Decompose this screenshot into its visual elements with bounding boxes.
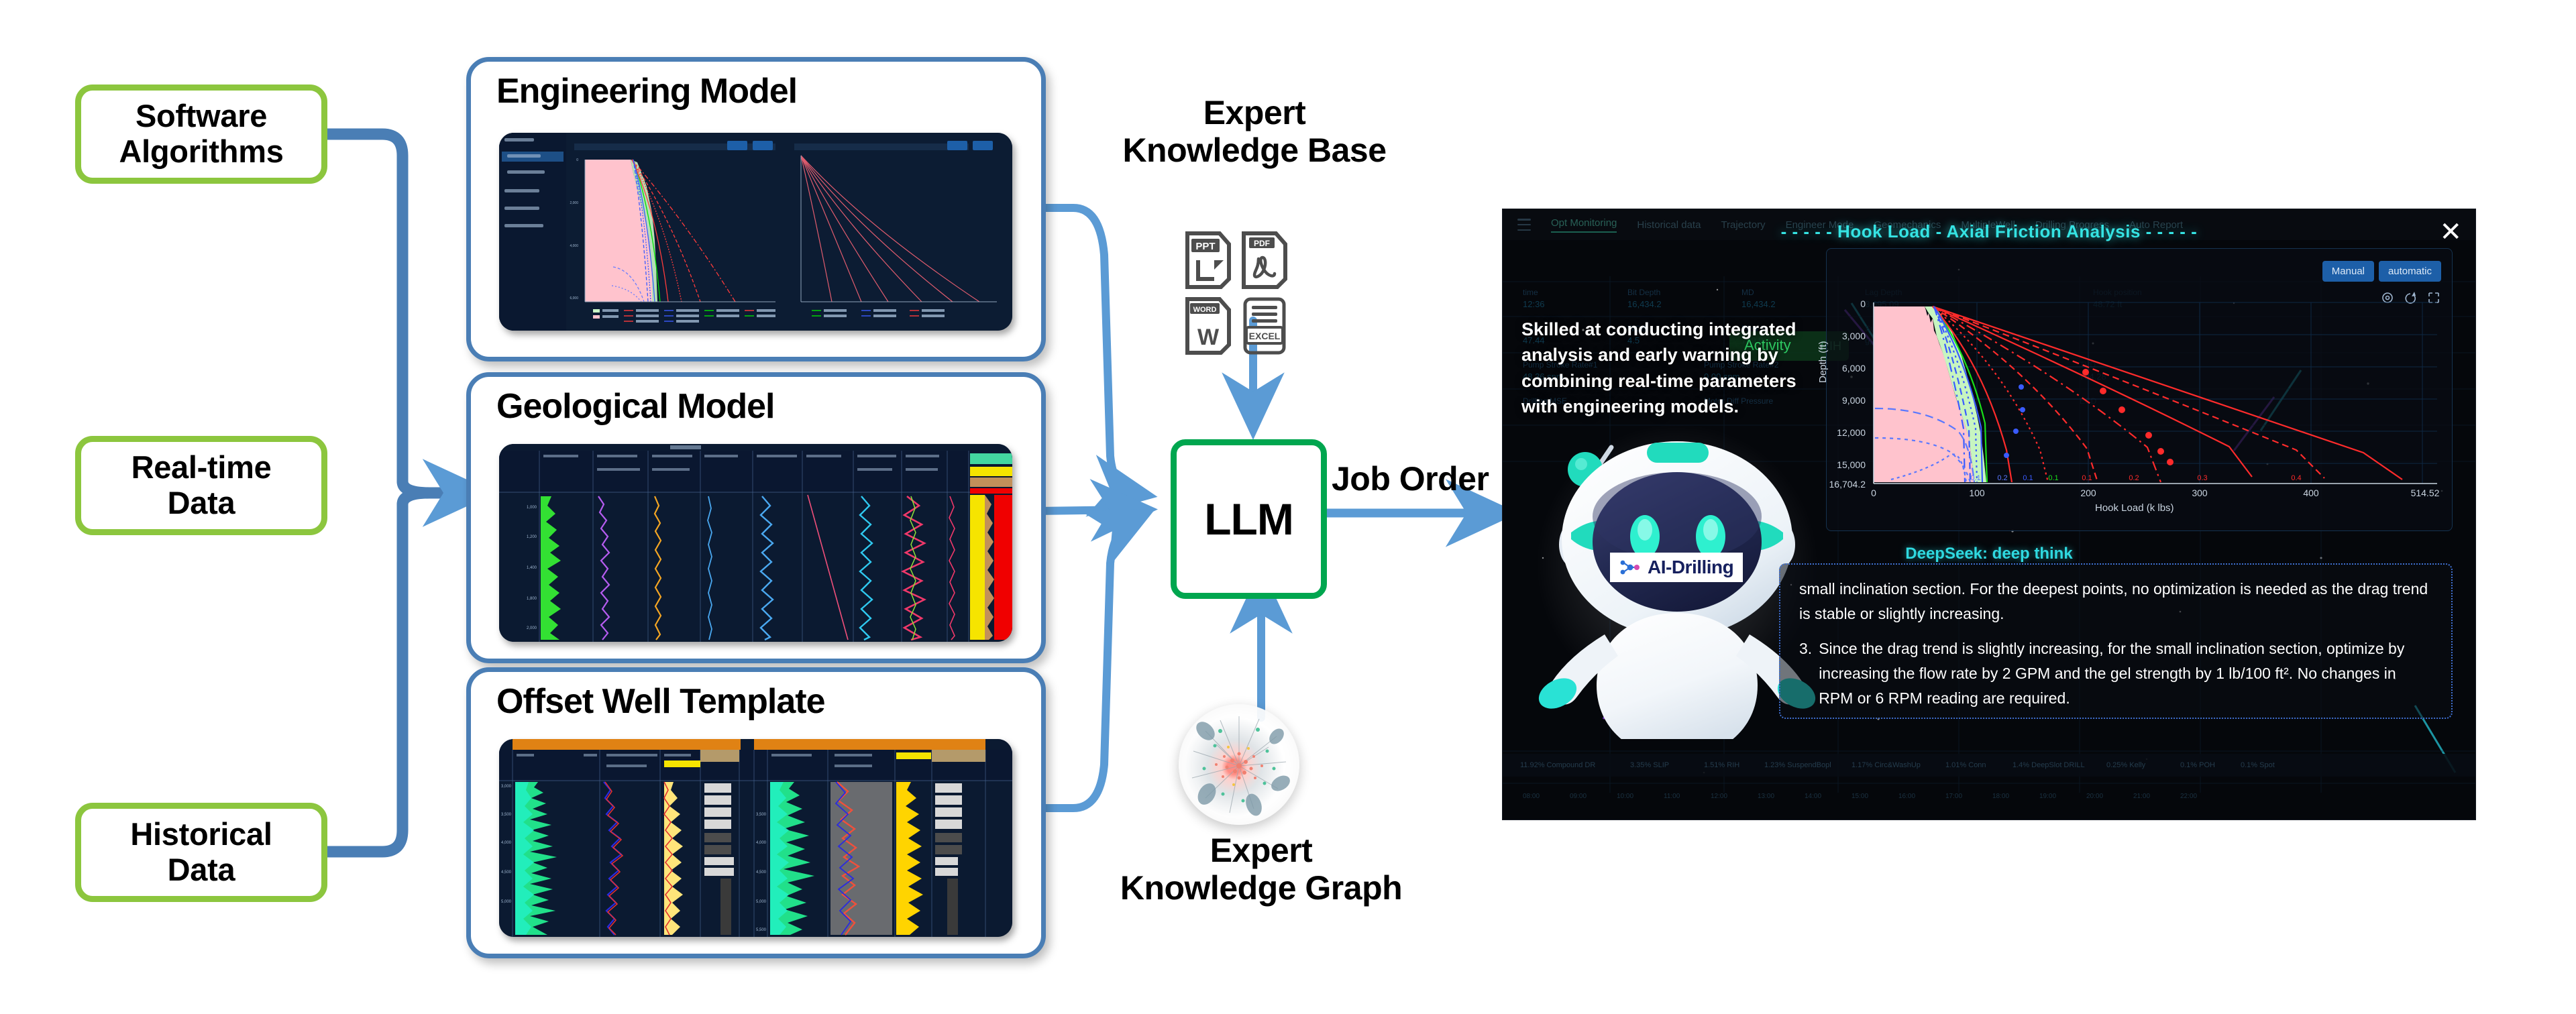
svg-text:4,000: 4,000 — [570, 244, 578, 248]
svg-text:1.51% RIH: 1.51% RIH — [1704, 761, 1739, 769]
knowledge-base-title: Expert Knowledge Base — [1100, 94, 1409, 169]
svg-text:15:00: 15:00 — [1851, 793, 1868, 800]
svg-text:11.92% Compound DR: 11.92% Compound DR — [1520, 761, 1595, 769]
llm-box[interactable]: LLM — [1171, 439, 1327, 599]
x-tick-300: 300 — [2189, 488, 2210, 498]
model-title: Engineering Model — [496, 71, 797, 111]
model-title: Offset Well Template — [496, 681, 825, 722]
svg-text:13:00: 13:00 — [1758, 793, 1774, 800]
chart-title: - - - - - Hook Load - Axial Friction Ana… — [1503, 221, 2475, 242]
svg-text:PDF: PDF — [1254, 239, 1270, 248]
x-tick-100: 100 — [1966, 488, 1988, 498]
source-box-software-algorithms[interactable]: Software Algorithms — [75, 84, 327, 184]
svg-text:0.1: 0.1 — [2048, 474, 2058, 482]
knowledge-graph-icon[interactable] — [1179, 704, 1299, 825]
svg-text:17:00: 17:00 — [1945, 793, 1962, 800]
source-label: Historical Data — [130, 817, 272, 887]
x-tick-200: 200 — [2078, 488, 2099, 498]
svg-text:1,800: 1,800 — [527, 597, 537, 601]
llm-label: LLM — [1204, 494, 1293, 545]
svg-text:0.1: 0.1 — [2082, 474, 2092, 482]
svg-text:08:00: 08:00 — [1523, 793, 1540, 800]
deepseek-item-number: 3. — [1799, 636, 1812, 712]
y-axis-label: Depth (ft) — [1817, 341, 1829, 383]
svg-text:EXCEL: EXCEL — [1249, 331, 1281, 341]
offset-well-template-screenshot: 3,000 3,500 4,000 4,500 5,000 3,500 4,00… — [499, 739, 1012, 937]
svg-text:2,000: 2,000 — [570, 201, 578, 205]
source-label: Software Algorithms — [119, 99, 283, 169]
deepseek-output-panel[interactable]: small inclination section. For the deepe… — [1779, 563, 2453, 719]
svg-text:1.4% DeepSlot DRILL: 1.4% DeepSlot DRILL — [2012, 761, 2085, 769]
svg-text:Bit Depth: Bit Depth — [1627, 288, 1660, 297]
pdf-file-icon[interactable]: PDF — [1238, 229, 1291, 291]
svg-text:12:36: 12:36 — [1523, 299, 1545, 309]
y-tick-12000: 12,000 — [1827, 427, 1866, 438]
svg-text:22:00: 22:00 — [2180, 793, 2197, 800]
job-order-label: Job Order — [1332, 459, 1489, 498]
svg-text:5,500: 5,500 — [756, 928, 767, 932]
svg-text:4,000: 4,000 — [501, 841, 512, 845]
svg-text:4,500: 4,500 — [756, 870, 767, 875]
model-output-arrows — [1036, 208, 1134, 808]
svg-text:0.25% Kelly: 0.25% Kelly — [2106, 761, 2146, 769]
document-icons-group: PPT PDF WORD W — [1182, 229, 1291, 357]
svg-text:1,000: 1,000 — [527, 506, 537, 510]
source-bracket — [315, 134, 463, 852]
word-file-icon[interactable]: WORD W — [1182, 295, 1234, 357]
deepseek-list-item: 3. Since the drag trend is slightly incr… — [1799, 636, 2432, 712]
svg-text:MD: MD — [1741, 288, 1754, 297]
svg-text:16:00: 16:00 — [1898, 793, 1915, 800]
svg-text:12:00: 12:00 — [1711, 793, 1727, 800]
svg-text:0.4: 0.4 — [2291, 474, 2301, 482]
knowledge-base-title-line1: Expert — [1100, 94, 1409, 131]
svg-text:16,434.2: 16,434.2 — [1627, 299, 1662, 309]
svg-text:6,000: 6,000 — [570, 296, 578, 300]
geological-model-screenshot: 1,000 1,200 1,400 1,800 2,000 — [499, 444, 1012, 642]
svg-text:3,500: 3,500 — [501, 813, 512, 817]
svg-text:1,400: 1,400 — [527, 566, 537, 570]
svg-text:21:00: 21:00 — [2133, 793, 2150, 800]
knowledge-graph-title-line1: Expert — [1100, 832, 1422, 869]
svg-text:3,500: 3,500 — [756, 813, 767, 817]
hook-load-plot: 0.1 0.2 0.1 0.1 0.1 0.2 0.3 0.4 — [1827, 249, 2452, 530]
svg-text:09:00: 09:00 — [1570, 793, 1587, 800]
source-box-real-time-data[interactable]: Real-time Data — [75, 436, 327, 535]
svg-text:18:00: 18:00 — [1992, 793, 2009, 800]
deepseek-item-text: Since the drag trend is slightly increas… — [1819, 636, 2432, 712]
svg-text:0.1% POH: 0.1% POH — [2180, 761, 2215, 769]
model-card-engineering[interactable]: Engineering Model — [466, 57, 1046, 361]
engineering-model-screenshot: 0 2,000 4,000 6,000 — [499, 133, 1012, 331]
y-tick-max: 16,704.2 — [1819, 479, 1866, 490]
svg-text:WORD: WORD — [1193, 306, 1217, 314]
x-axis-label: Hook Load (k lbs) — [2095, 502, 2174, 514]
svg-text:0: 0 — [576, 158, 578, 162]
deepseek-title: DeepSeek: deep think — [1503, 545, 2475, 563]
svg-text:20:00: 20:00 — [2086, 793, 2103, 800]
y-tick-9000: 9,000 — [1827, 395, 1866, 406]
svg-text:PPT: PPT — [1195, 241, 1215, 252]
svg-text:0.2: 0.2 — [1997, 474, 2007, 482]
svg-text:4,500: 4,500 — [501, 870, 512, 875]
knowledge-graph-title: Expert Knowledge Graph — [1100, 832, 1422, 907]
x-tick-max: 514.52 — [2405, 488, 2445, 498]
svg-text:time: time — [1523, 288, 1538, 297]
source-box-historical-data[interactable]: Historical Data — [75, 803, 327, 902]
x-tick-400: 400 — [2300, 488, 2322, 498]
svg-text:1.17% Circ&WashUp: 1.17% Circ&WashUp — [1851, 761, 1921, 769]
svg-text:10:00: 10:00 — [1617, 793, 1633, 800]
hook-load-chart-card[interactable]: Manual automatic — [1826, 248, 2453, 531]
ai-drilling-app-window[interactable]: timeBit DepthMD Lag DepthHook position R… — [1503, 209, 2475, 820]
knowledge-base-title-line2: Knowledge Base — [1100, 131, 1409, 169]
x-tick-0: 0 — [1864, 488, 1883, 498]
y-tick-0: 0 — [1827, 298, 1866, 309]
ppt-file-icon[interactable]: PPT — [1182, 229, 1234, 291]
svg-text:0.3: 0.3 — [2197, 474, 2207, 482]
svg-text:1.01% Conn: 1.01% Conn — [1945, 761, 1986, 769]
svg-text:1,200: 1,200 — [527, 535, 537, 539]
excel-file-icon[interactable]: EXCEL — [1238, 295, 1291, 357]
svg-text:0.2: 0.2 — [2129, 474, 2139, 482]
y-tick-6000: 6,000 — [1827, 363, 1866, 374]
svg-text:1.23% SuspendBopl: 1.23% SuspendBopl — [1764, 761, 1831, 769]
svg-text:14:00: 14:00 — [1805, 793, 1821, 800]
deepseek-paragraph: small inclination section. For the deepe… — [1799, 577, 2432, 627]
model-card-offset-well[interactable]: Offset Well Template — [466, 667, 1046, 958]
source-label: Real-time Data — [131, 450, 272, 520]
svg-text:W: W — [1197, 325, 1220, 350]
diagram-canvas: Software Algorithms Real-time Data Histo… — [0, 0, 2576, 1014]
y-tick-3000: 3,000 — [1827, 331, 1866, 341]
svg-text:2,000: 2,000 — [527, 626, 537, 630]
svg-text:5,000: 5,000 — [501, 900, 512, 904]
svg-text:0.1: 0.1 — [2023, 474, 2033, 482]
knowledge-graph-title-line2: Knowledge Graph — [1100, 869, 1422, 907]
svg-text:0.1: 0.1 — [1970, 474, 1980, 482]
svg-text:4,000: 4,000 — [756, 841, 767, 845]
model-card-geological[interactable]: Geological Model — [466, 372, 1046, 663]
svg-text:5,000: 5,000 — [756, 900, 767, 904]
svg-text:3.35% SLIP: 3.35% SLIP — [1630, 761, 1669, 769]
y-tick-15000: 15,000 — [1827, 459, 1866, 470]
svg-text:0.1% Spot: 0.1% Spot — [2241, 761, 2275, 769]
svg-text:19:00: 19:00 — [2039, 793, 2056, 800]
svg-text:11:00: 11:00 — [1664, 793, 1680, 800]
svg-text:3,000: 3,000 — [501, 785, 512, 789]
model-title: Geological Model — [496, 386, 775, 427]
svg-text:16,434.2: 16,434.2 — [1741, 299, 1776, 309]
